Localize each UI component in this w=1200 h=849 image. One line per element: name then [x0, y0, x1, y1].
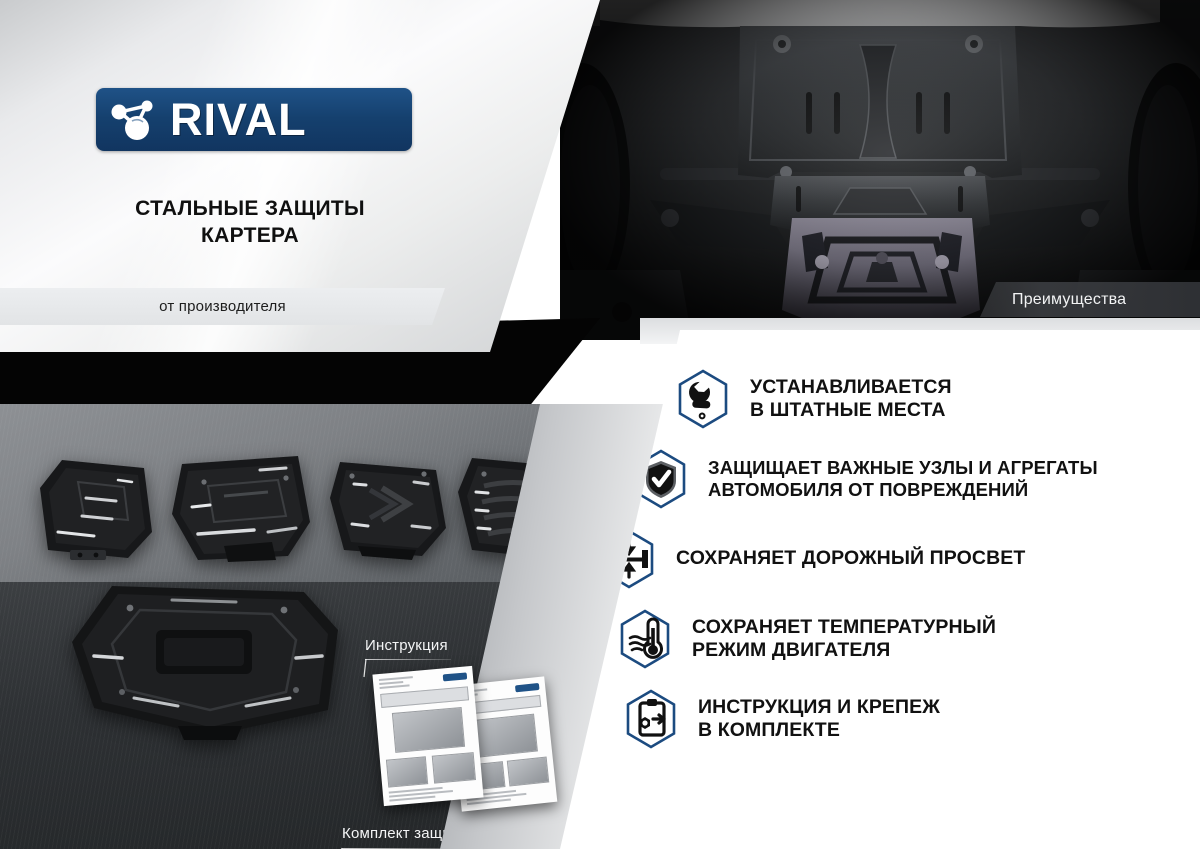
benefit-item-clearance: СОХРАНЯЕТ ДОРОЖНЫЙ ПРОСВЕТ [598, 528, 1200, 590]
tagline-strip: от производителя [0, 288, 445, 325]
benefit-text-clearance: СОХРАНЯЕТ ДОРОЖНЫЙ ПРОСВЕТ [676, 547, 1025, 570]
page-title-line2: КАРТЕРА [0, 223, 500, 250]
benefit-text-temperature: СОХРАНЯЕТ ТЕМПЕРАТУРНЫЙ РЕЖИМ ДВИГАТЕЛЯ [692, 616, 996, 663]
benefits-list: УСТАНАВЛИВАЕТСЯ В ШТАТНЫЕ МЕСТА ЗАЩИЩАЕТ… [620, 368, 1200, 768]
skid-plate-3 [324, 454, 452, 564]
rival-logo-wordmark: RIVAL [170, 97, 307, 142]
benefit-item-kit: ИНСТРУКЦИЯ И КРЕПЕЖ В КОМПЛЕКТЕ [620, 688, 1200, 750]
rival-logo: RIVAL [96, 88, 412, 151]
hero-photo: Преимущества [560, 0, 1200, 340]
benefit-text-installation: УСТАНАВЛИВАЕТСЯ В ШТАТНЫЕ МЕСТА [750, 376, 952, 423]
callout-plate-set-label: Комплект защит [342, 825, 458, 842]
instruction-sheet-front [372, 666, 483, 806]
molecule-icon [106, 96, 168, 144]
benefit-text-protection: ЗАЩИЩАЕТ ВАЖНЫЕ УЗЛЫ И АГРЕГАТЫ АВТОМОБИ… [708, 457, 1098, 501]
benefit-text-kit: ИНСТРУКЦИЯ И КРЕПЕЖ В КОМПЛЕКТЕ [698, 696, 940, 743]
page-title: СТАЛЬНЫЕ ЗАЩИТЫ КАРТЕРА [0, 196, 500, 250]
advantages-banner-label: Преимущества [1012, 291, 1126, 309]
skid-plate-1 [32, 454, 162, 564]
brand-panel: RIVAL СТАЛЬНЫЕ ЗАЩИТЫ КАРТЕРА от произво… [0, 0, 600, 352]
clipboard-bolt-icon [620, 688, 682, 750]
wrench-icon [672, 368, 734, 430]
benefit-item-installation: УСТАНАВЛИВАЕТСЯ В ШТАТНЫЕ МЕСТА [672, 368, 1200, 430]
benefit-item-temperature: СОХРАНЯЕТ ТЕМПЕРАТУРНЫЙ РЕЖИМ ДВИГАТЕЛЯ [614, 608, 1200, 670]
thermometer-airflow-icon [614, 608, 676, 670]
benefit-item-protection: ЗАЩИЩАЕТ ВАЖНЫЕ УЗЛЫ И АГРЕГАТЫ АВТОМОБИ… [630, 448, 1200, 510]
advantages-banner: Преимущества [980, 282, 1200, 317]
callout-instruction-label: Инструкция [365, 637, 448, 654]
main-skid-plate [60, 582, 350, 742]
skid-plate-2 [168, 452, 318, 567]
page-title-line1: СТАЛЬНЫЕ ЗАЩИТЫ [0, 196, 500, 223]
tagline-label: от производителя [159, 298, 286, 315]
poster-canvas: Преимущества RIVAL СТАЛЬНЫЕ ЗАЩИТЫ КАРТЕ… [0, 0, 1200, 849]
callout-instruction-underline [365, 659, 451, 660]
